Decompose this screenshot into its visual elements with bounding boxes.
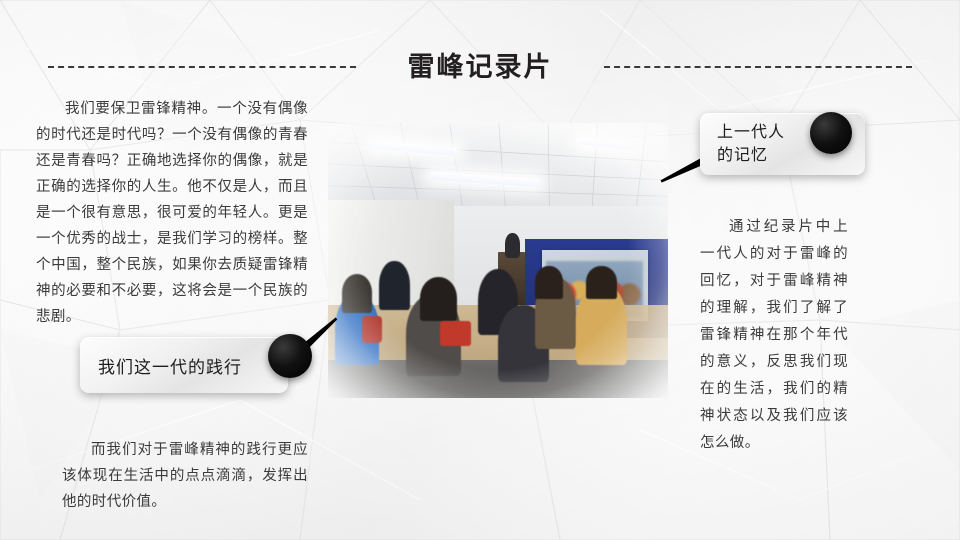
- left-bottom-paragraph: 而我们对于雷峰精神的践行更应该体现在生活中的点点滴滴，发挥出他的时代价值。: [62, 437, 308, 515]
- slide-canvas: 雷峰记录片: [0, 0, 960, 540]
- chair: [362, 316, 382, 344]
- left-top-paragraph: 我们要保卫雷锋精神。一个没有偶像的时代还是时代吗？一个没有偶像的青春还是青春吗？…: [36, 96, 308, 330]
- student: [586, 266, 617, 299]
- photo-frame: [328, 123, 668, 398]
- student: [342, 274, 373, 313]
- classroom-photo: [328, 123, 668, 398]
- callout-knob-right: [810, 112, 852, 154]
- chair: [440, 321, 471, 346]
- callout-right-label: 上一代人 的记忆: [717, 121, 785, 167]
- callout-left-label: 我们这一代的践行: [98, 353, 242, 378]
- title-row: 雷峰记录片: [0, 45, 960, 89]
- page-title: 雷峰记录片: [382, 54, 579, 81]
- student: [420, 277, 457, 321]
- presenter: [505, 233, 520, 258]
- student: [535, 266, 562, 299]
- right-paragraph: 通过纪录片中上一代人的对于雷峰的回忆，对于雷峰精神的理解，我们了解了雷锋精神在那…: [700, 214, 848, 457]
- student: [379, 261, 410, 311]
- callout-left[interactable]: 我们这一代的践行: [80, 337, 288, 393]
- callout-knob-left: [268, 334, 312, 378]
